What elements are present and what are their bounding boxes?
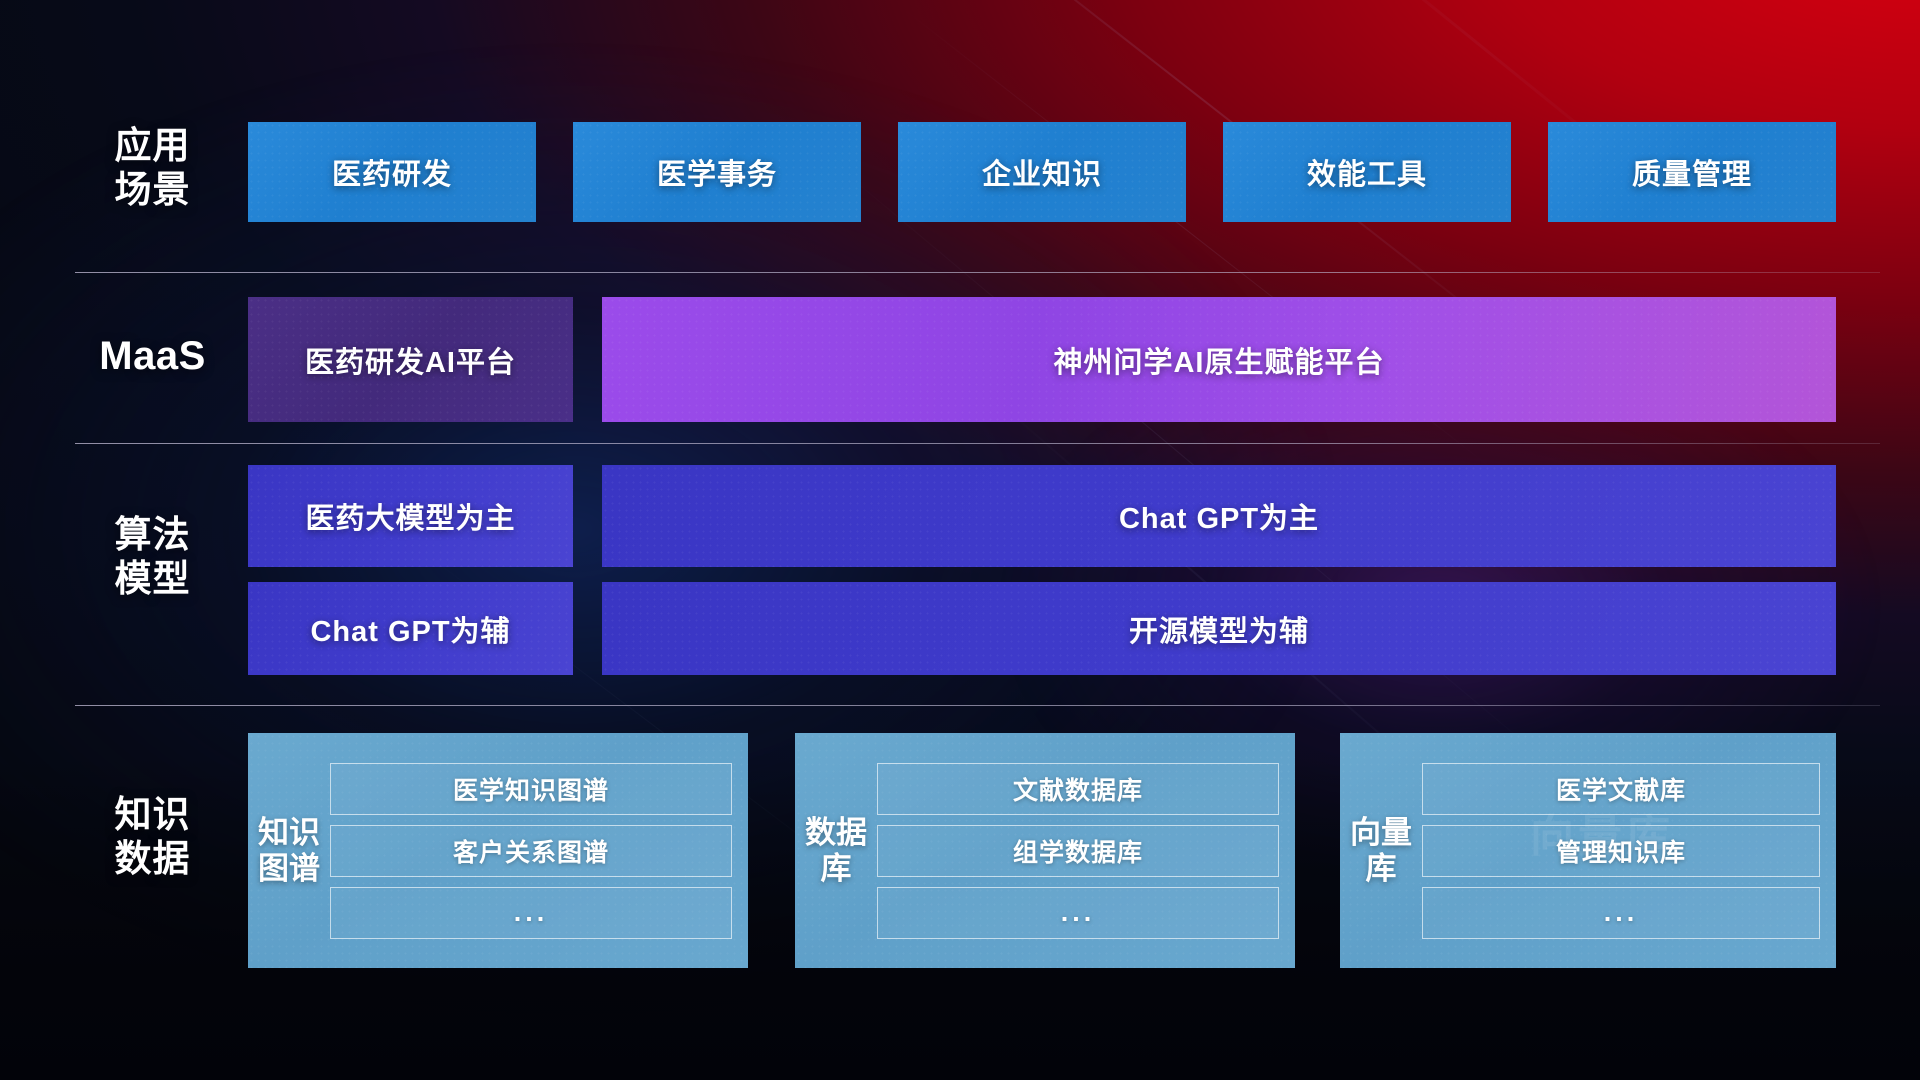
app-scenario-box-4[interactable]: 效能工具 (1223, 122, 1511, 222)
knowledge-group-1: 知识图谱 医学知识图谱 客户关系图谱 ... (248, 733, 748, 968)
algorithm-box-row2-left[interactable]: Chat GPT为辅 (248, 582, 573, 675)
knowledge-group-items: 文献数据库 组学数据库 ... (877, 763, 1279, 939)
knowledge-item[interactable]: 医学知识图谱 (330, 763, 732, 815)
knowledge-group-items: 医学知识图谱 客户关系图谱 ... (330, 763, 732, 939)
row-application-scenarios: 应用场景 医药研发 医学事务 企业知识 效能工具 质量管理 (0, 122, 1920, 222)
knowledge-item[interactable]: 组学数据库 (877, 825, 1279, 877)
maas-right-label: 神州问学AI原生赋能平台 (1053, 339, 1384, 381)
app-scenario-label: 效能工具 (1307, 151, 1427, 193)
app-scenario-box-5[interactable]: 质量管理 (1548, 122, 1836, 222)
row-label-knowledge-data: 知识数据 (75, 793, 230, 880)
knowledge-item-more[interactable]: ... (330, 887, 732, 939)
knowledge-group-2: 数据库 文献数据库 组学数据库 ... (795, 733, 1295, 968)
knowledge-item[interactable]: 客户关系图谱 (330, 825, 732, 877)
knowledge-item-more[interactable]: ... (1422, 887, 1820, 939)
knowledge-item[interactable]: 文献数据库 (877, 763, 1279, 815)
row-maas: MaaS 医药研发AI平台 神州问学AI原生赋能平台 (0, 297, 1920, 422)
maas-box-left[interactable]: 医药研发AI平台 (248, 297, 573, 422)
row-label-application-scenarios: 应用场景 (75, 124, 230, 211)
algorithm-label: 医药大模型为主 (305, 495, 515, 537)
app-scenario-box-3[interactable]: 企业知识 (898, 122, 1186, 222)
app-scenario-label: 质量管理 (1632, 151, 1752, 193)
knowledge-group-title: 知识图谱 (248, 815, 330, 886)
algorithm-box-row1-right[interactable]: Chat GPT为主 (602, 465, 1836, 567)
row-label-maas: MaaS (75, 333, 230, 380)
maas-left-label: 医药研发AI平台 (305, 339, 516, 381)
algorithm-label: Chat GPT为辅 (310, 608, 510, 650)
maas-box-right[interactable]: 神州问学AI原生赋能平台 (602, 297, 1836, 422)
knowledge-item[interactable]: 管理知识库 (1422, 825, 1820, 877)
row-divider-2 (75, 443, 1880, 444)
knowledge-group-items: 医学文献库 管理知识库 ... (1422, 763, 1820, 939)
algorithm-box-row2-right[interactable]: 开源模型为辅 (602, 582, 1836, 675)
row-divider-1 (75, 272, 1880, 273)
knowledge-group-title: 向量库 (1340, 815, 1422, 886)
row-knowledge-data: 知识数据 知识图谱 医学知识图谱 客户关系图谱 ... 数据库 文献数据库 组学… (0, 733, 1920, 968)
knowledge-item[interactable]: 医学文献库 (1422, 763, 1820, 815)
app-scenario-label: 医药研发 (332, 151, 452, 193)
knowledge-group-title: 数据库 (795, 815, 877, 886)
architecture-diagram: 应用场景 医药研发 医学事务 企业知识 效能工具 质量管理 MaaS 医药研发A… (0, 0, 1920, 1080)
algorithm-box-row1-left[interactable]: 医药大模型为主 (248, 465, 573, 567)
row-algorithm-models: 算法模型 医药大模型为主 Chat GPT为主 Chat GPT为辅 开源模型为… (0, 465, 1920, 675)
algorithm-label: Chat GPT为主 (1119, 495, 1319, 537)
algorithm-label: 开源模型为辅 (1129, 608, 1309, 650)
app-scenario-label: 企业知识 (982, 151, 1102, 193)
app-scenario-label: 医学事务 (657, 151, 777, 193)
row-divider-3 (75, 705, 1880, 706)
app-scenario-box-1[interactable]: 医药研发 (248, 122, 536, 222)
knowledge-item-more[interactable]: ... (877, 887, 1279, 939)
knowledge-group-3: 向量库 医学文献库 管理知识库 ... (1340, 733, 1836, 968)
app-scenario-box-2[interactable]: 医学事务 (573, 122, 861, 222)
row-label-algorithm-models: 算法模型 (75, 513, 230, 600)
